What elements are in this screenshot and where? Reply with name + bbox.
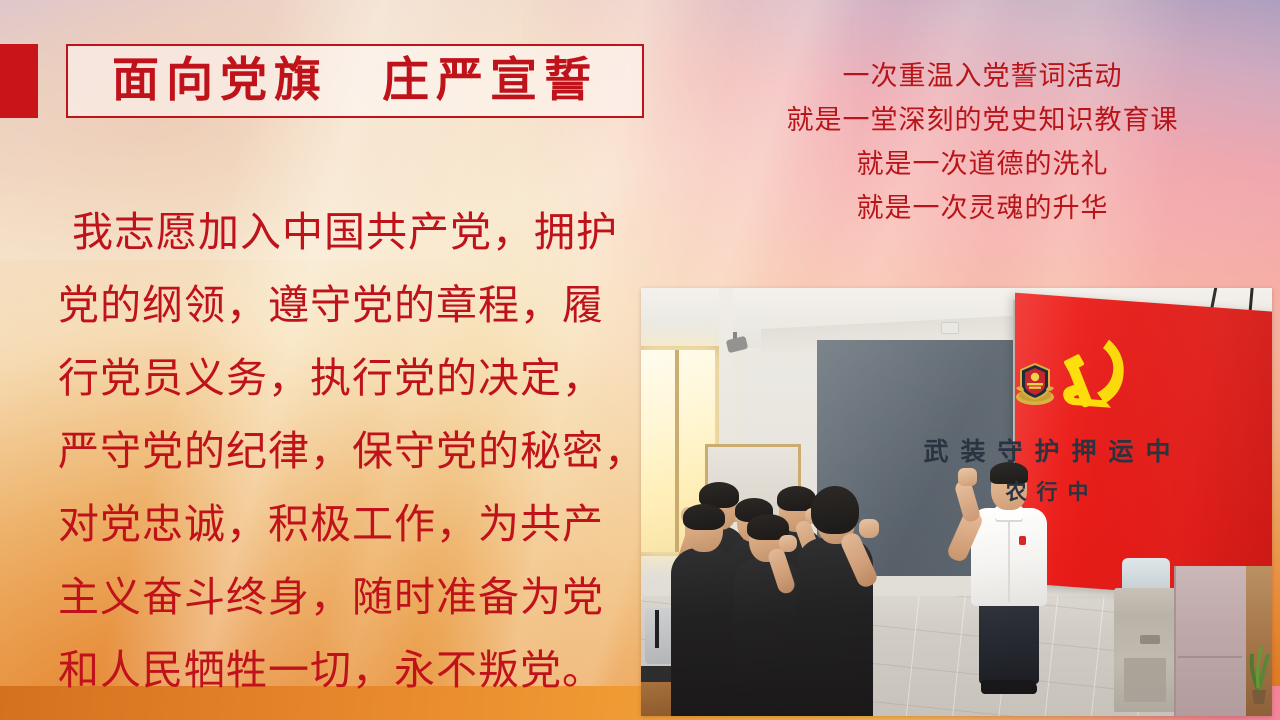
leader-shoes — [981, 680, 1037, 694]
side-cabinet — [1174, 566, 1246, 716]
smoke-detector-icon — [941, 322, 959, 334]
title-block: 面向党旗 庄严宣誓 — [0, 44, 660, 118]
oath-takers-group — [663, 356, 963, 716]
person-front-2 — [733, 510, 801, 716]
slogan-block: 一次重温入党誓词活动 就是一堂深刻的党史知识教育课 就是一次道德的洗礼 就是一次… — [700, 55, 1265, 231]
photo-scene: 武装守护押运中 农行中 — [641, 288, 1272, 716]
leader-shirt-placket — [1008, 514, 1010, 602]
oath-text-block: 我志愿加入中国共产党，拥护 党的纲领，遵守党的章程，履 行党员义务，执行党的决定… — [58, 196, 648, 707]
party-badge-icon — [1019, 536, 1026, 545]
slogan-line-2: 就是一堂深刻的党史知识教育课 — [700, 99, 1265, 143]
chair-leg — [655, 610, 659, 648]
person-fist — [779, 535, 797, 552]
slide-canvas: 面向党旗 庄严宣誓 一次重温入党誓词活动 就是一堂深刻的党史知识教育课 就是一次… — [0, 0, 1280, 720]
signboard-line-2: 农行中 — [817, 476, 1272, 506]
leader-trousers — [979, 602, 1039, 684]
oath-line-4: 严守党的纪律，保守党的秘密， — [58, 415, 648, 488]
oath-ceremony-photo: 武装守护押运中 农行中 — [641, 288, 1272, 716]
outdoor-view — [1246, 566, 1272, 716]
dispenser-door — [1124, 658, 1166, 702]
oath-line-6: 主义奋斗终身，随时准备为党 — [58, 561, 648, 634]
oath-line-5: 对党忠诚，积极工作，为共产 — [58, 488, 648, 561]
person-body — [671, 548, 737, 716]
page-title: 面向党旗 庄严宣誓 — [112, 57, 598, 104]
oath-line-7: 和人民牺牲一切，永不叛党。 — [58, 634, 648, 707]
oath-line-1: 我志愿加入中国共产党，拥护 — [58, 196, 648, 269]
slogan-line-4: 就是一次灵魂的升华 — [700, 187, 1265, 231]
person-fist — [859, 519, 879, 538]
oath-line-3: 行党员义务，执行党的决定， — [58, 342, 648, 415]
signboard-line-1: 武装守护押运中 — [817, 432, 1272, 468]
slogan-line-1: 一次重温入党誓词活动 — [700, 55, 1265, 99]
potted-plant-icon — [1246, 620, 1272, 706]
title-box: 面向党旗 庄严宣誓 — [66, 44, 644, 118]
slogan-line-3: 就是一次道德的洗礼 — [700, 143, 1265, 187]
person-front-1 — [671, 498, 737, 716]
cabinet-seam — [1178, 656, 1242, 658]
title-accent-square — [0, 44, 38, 118]
person-hair — [683, 504, 725, 530]
police-badge-icon — [1014, 360, 1056, 408]
oath-line-2: 党的纲领，遵守党的章程，履 — [58, 269, 648, 342]
person-front-3 — [797, 488, 873, 716]
water-bottle — [1122, 558, 1170, 592]
dispenser-tap-icon — [1140, 635, 1160, 644]
